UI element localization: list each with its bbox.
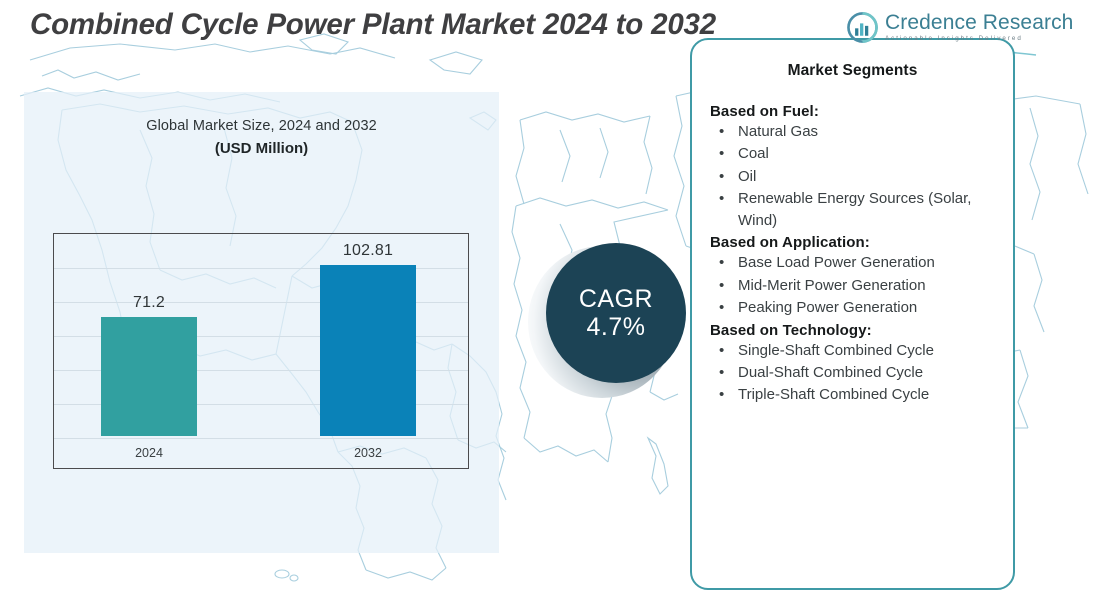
bar-category-label: 2032 <box>300 446 436 460</box>
segment-item-label: Coal <box>738 145 769 162</box>
segment-item-list: •Natural Gas•Coal•Oil•Renewable Energy S… <box>710 121 995 231</box>
bar-chart-plot: 71.22024102.812032 <box>53 233 469 469</box>
segment-item[interactable]: •Dual-Shaft Combined Cycle <box>710 362 995 383</box>
bullet-icon: • <box>719 166 724 187</box>
segment-item[interactable]: •Oil <box>710 166 995 187</box>
bar-value-label: 102.81 <box>300 242 436 260</box>
bullet-icon: • <box>719 121 724 142</box>
segment-group: Based on Fuel:•Natural Gas•Coal•Oil•Rene… <box>710 103 995 231</box>
bar-category-label: 2024 <box>81 446 217 460</box>
segment-item-label: Single-Shaft Combined Cycle <box>738 342 934 359</box>
segment-item-label: Mid-Merit Power Generation <box>738 277 926 294</box>
segment-item-label: Renewable Energy Sources (Solar, Wind) <box>738 190 971 228</box>
segment-item-label: Peaking Power Generation <box>738 299 917 316</box>
segment-item-label: Base Load Power Generation <box>738 254 935 271</box>
segment-item[interactable]: •Natural Gas <box>710 121 995 142</box>
brand-name: Credence Research <box>885 12 1073 33</box>
bullet-icon: • <box>719 143 724 164</box>
segment-group: Based on Technology:•Single-Shaft Combin… <box>710 322 995 406</box>
segment-group-title: Based on Application: <box>710 234 995 251</box>
segment-item-label: Triple-Shaft Combined Cycle <box>738 386 929 403</box>
segment-group: Based on Application:•Base Load Power Ge… <box>710 234 995 318</box>
segment-group-title: Based on Technology: <box>710 322 995 339</box>
bullet-icon: • <box>719 252 724 273</box>
segment-item[interactable]: •Renewable Energy Sources (Solar, Wind) <box>710 188 995 231</box>
segment-item-list: •Base Load Power Generation•Mid-Merit Po… <box>710 252 995 318</box>
infographic-page: Combined Cycle Power Plant Market 2024 t… <box>0 0 1117 602</box>
cagr-label: CAGR <box>579 285 653 313</box>
market-segments-heading: Market Segments <box>710 62 995 80</box>
bullet-icon: • <box>719 188 724 209</box>
segment-item-label: Oil <box>738 168 756 185</box>
bullet-icon: • <box>719 362 724 383</box>
segment-group-title: Based on Fuel: <box>710 103 995 120</box>
market-segments-panel: Market Segments Based on Fuel:•Natural G… <box>690 38 1015 590</box>
segment-item[interactable]: •Base Load Power Generation <box>710 252 995 273</box>
cagr-circle: CAGR 4.7% <box>546 243 686 383</box>
segment-item-list: •Single-Shaft Combined Cycle•Dual-Shaft … <box>710 340 995 406</box>
segment-groups: Based on Fuel:•Natural Gas•Coal•Oil•Rene… <box>710 103 995 406</box>
segment-item-label: Natural Gas <box>738 123 818 140</box>
chart-heading-line2: (USD Million) <box>24 140 499 157</box>
segment-item[interactable]: •Single-Shaft Combined Cycle <box>710 340 995 361</box>
chart-heading-line1: Global Market Size, 2024 and 2032 <box>24 118 499 134</box>
brand-logo: Credence Research Actionable Insights De… <box>846 8 1034 46</box>
cagr-value: 4.7% <box>587 313 646 341</box>
segment-item-label: Dual-Shaft Combined Cycle <box>738 364 923 381</box>
bullet-icon: • <box>719 340 724 361</box>
circle-bar-chart-icon <box>846 11 879 44</box>
bar-value-label: 71.2 <box>81 294 217 312</box>
segment-item[interactable]: •Coal <box>710 143 995 164</box>
segment-item[interactable]: •Peaking Power Generation <box>710 297 995 318</box>
cagr-badge: CAGR 4.7% <box>528 243 688 403</box>
bar-2024[interactable] <box>101 317 197 436</box>
bullet-icon: • <box>719 297 724 318</box>
segment-item[interactable]: •Mid-Merit Power Generation <box>710 275 995 296</box>
chart-heading: Global Market Size, 2024 and 2032 (USD M… <box>24 118 499 157</box>
gridline <box>54 438 468 439</box>
bar-2032[interactable] <box>320 265 416 436</box>
bullet-icon: • <box>719 384 724 405</box>
segment-item[interactable]: •Triple-Shaft Combined Cycle <box>710 384 995 405</box>
bullet-icon: • <box>719 275 724 296</box>
brand-tagline: Actionable Insights Delivered <box>885 36 1073 42</box>
